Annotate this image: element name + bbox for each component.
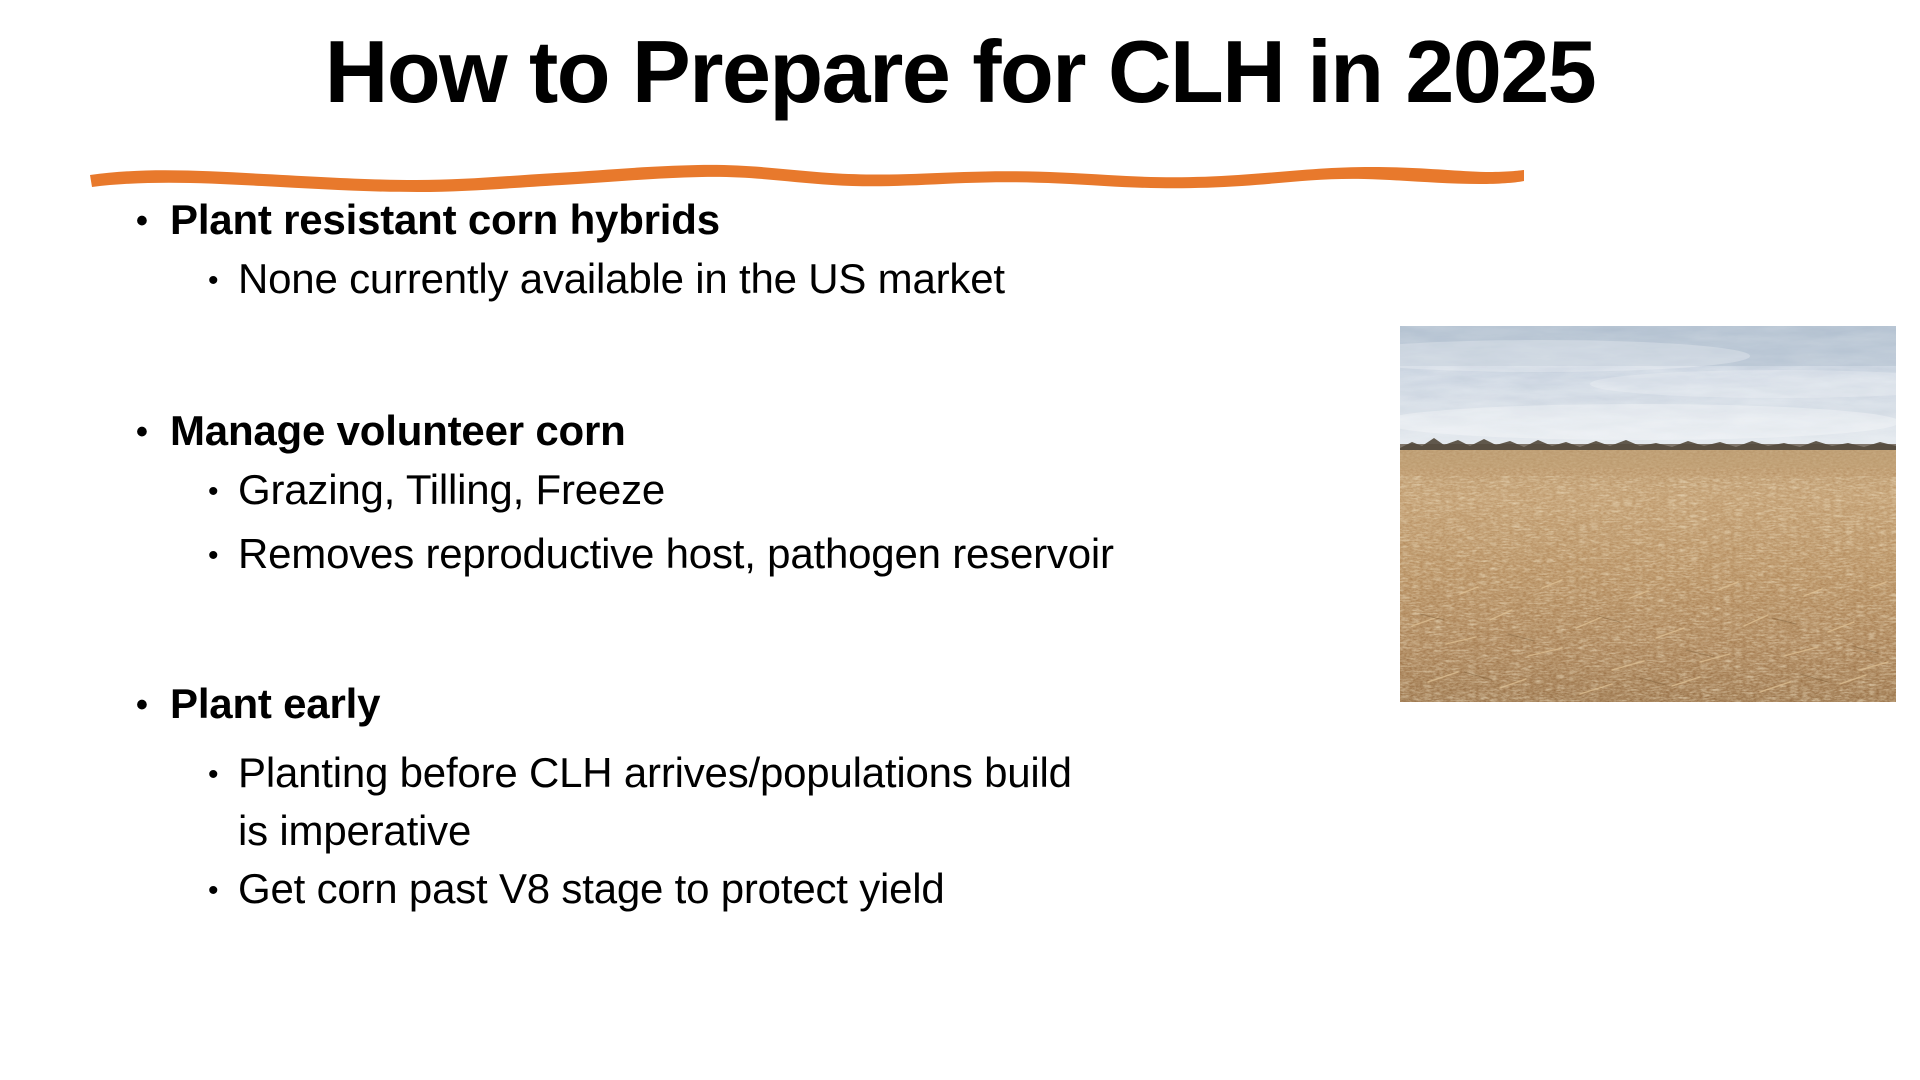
field-region bbox=[1400, 450, 1896, 702]
bullet-marker-icon: • bbox=[136, 413, 170, 451]
bullet-text: Manage volunteer corn bbox=[170, 407, 626, 454]
bullet-level1-manage-volunteer-corn: •Manage volunteer corn bbox=[136, 407, 626, 454]
bullet-marker-icon: • bbox=[208, 475, 238, 509]
bullet-text: Grazing, Tilling, Freeze bbox=[238, 466, 665, 513]
bullet-level2-grazing-tilling-freeze: •Grazing, Tilling, Freeze bbox=[208, 466, 665, 513]
bullet-text: None currently available in the US marke… bbox=[238, 255, 1005, 302]
bullet-level2-none-currently-available: •None currently available in the US mark… bbox=[208, 255, 1005, 302]
bullet-list: •Plant resistant corn hybrids •None curr… bbox=[0, 196, 1400, 1036]
bullet-marker-icon: • bbox=[208, 539, 238, 573]
bullet-text: Get corn past V8 stage to protect yield bbox=[238, 865, 945, 912]
bullet-text: Plant resistant corn hybrids bbox=[170, 196, 720, 243]
bullet-marker-icon: • bbox=[208, 874, 238, 908]
bullet-level2-is-imperative-continuation: is imperative bbox=[238, 807, 471, 854]
bullet-level1-plant-early: •Plant early bbox=[136, 680, 380, 727]
bullet-text: Removes reproductive host, pathogen rese… bbox=[238, 530, 1114, 577]
bullet-marker-icon: • bbox=[136, 202, 170, 240]
sky-region bbox=[1400, 326, 1896, 452]
slide-canvas: How to Prepare for CLH in 2025 •Plant re… bbox=[0, 0, 1920, 1080]
bullet-marker-icon: • bbox=[208, 758, 238, 792]
bullet-level2-get-corn-past-v8-stage: •Get corn past V8 stage to protect yield bbox=[208, 865, 945, 912]
bullet-marker-icon: • bbox=[208, 264, 238, 298]
bullet-text: is imperative bbox=[238, 807, 471, 854]
bullet-level2-planting-before-clh-arrives: •Planting before CLH arrives/populations… bbox=[208, 749, 1072, 796]
bullet-level2-removes-reproductive-host: •Removes reproductive host, pathogen res… bbox=[208, 530, 1114, 577]
bullet-level1-plant-resistant-corn-hybrids: •Plant resistant corn hybrids bbox=[136, 196, 720, 243]
title-underline-accent bbox=[86, 158, 1526, 198]
bullet-text: Plant early bbox=[170, 680, 380, 727]
page-title: How to Prepare for CLH in 2025 bbox=[0, 26, 1920, 118]
orange-squiggle-path bbox=[90, 165, 1524, 192]
bullet-marker-icon: • bbox=[136, 686, 170, 724]
bullet-text: Planting before CLH arrives/populations … bbox=[238, 749, 1072, 796]
harvested-corn-field-photo bbox=[1400, 326, 1896, 702]
